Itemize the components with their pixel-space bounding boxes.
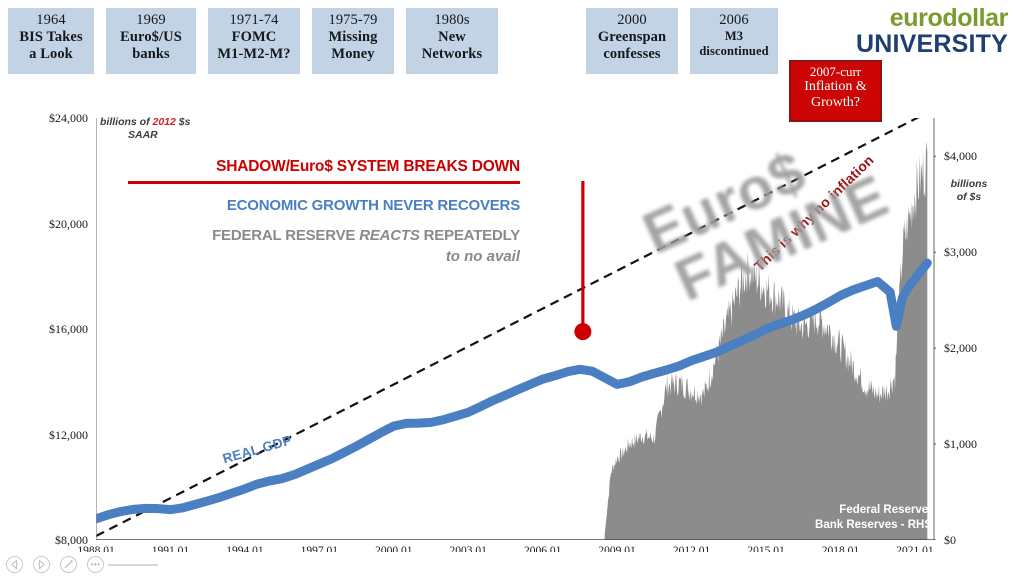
timeline-box-year: 2000 (588, 12, 676, 29)
timeline-box-line3: Money (314, 46, 392, 63)
pen-tool-icon[interactable] (60, 556, 77, 573)
y-axis-tick-label: $24,000 (30, 111, 88, 126)
event-box-2007-year: 2007-curr (791, 64, 880, 79)
slide-canvas: 1964BIS Takesa Look1969Euro$/USbanks1971… (0, 0, 1024, 576)
timeline-box-year: 1975-79 (314, 12, 392, 29)
timeline-box-1975-79[interactable]: 1975-79MissingMoney (312, 8, 394, 74)
annotation-rule (128, 181, 520, 184)
previous-slide-icon[interactable] (6, 556, 23, 573)
timeline-box-1964[interactable]: 1964BIS Takesa Look (8, 8, 94, 74)
event-box-2007-line2: Inflation & (791, 79, 880, 95)
left-axis-caption-year: 2012 (153, 116, 176, 128)
annotation-line-3b: REPEATEDLY (420, 227, 520, 244)
timeline-box-line3: confesses (588, 46, 676, 63)
presentation-toolbar: ••• (0, 552, 1024, 576)
source-note-line-1: Federal Reserve; (839, 504, 932, 516)
timeline-box-line2: New (408, 29, 496, 46)
timeline-box-line2: Missing (314, 29, 392, 46)
timeline-box-line3: M1-M2-M? (210, 46, 298, 63)
timeline-box-year: 2006 (692, 12, 776, 29)
timeline-box-1971-74[interactable]: 1971-74FOMCM1-M2-M? (208, 8, 300, 74)
timeline-box-year: 1971-74 (210, 12, 298, 29)
left-axis-caption-pre: billions of (100, 116, 153, 128)
annotation-headline: SHADOW/Euro$ SYSTEM BREAKS DOWN (128, 158, 520, 176)
y2-axis-tick-label: $1,000 (944, 437, 1004, 452)
timeline-box-line2: BIS Takes (10, 29, 92, 46)
y2-axis-tick-label: $4,000 (944, 149, 1004, 164)
right-axis-caption-l2: of $s (957, 191, 982, 203)
left-axis-caption-post: $s (176, 116, 191, 128)
play-slide-icon[interactable] (33, 556, 50, 573)
annotation-line-3a: FEDERAL RESERVE (212, 227, 359, 244)
source-note: Federal Reserve; Bank Reserves - RHS (808, 503, 932, 533)
annotation-line-3: FEDERAL RESERVE REACTS REPEATEDLY (128, 227, 520, 244)
source-note-line-2: Bank Reserves - RHS (815, 519, 932, 531)
event-box-2007-line3: Growth? (791, 95, 880, 111)
annotation-line-2: ECONOMIC GROWTH NEVER RECOVERS (128, 197, 520, 214)
timeline-box-1969[interactable]: 1969Euro$/USbanks (106, 8, 196, 74)
right-axis-caption-l1: billions (951, 178, 988, 190)
timeline-box-line2: FOMC (210, 29, 298, 46)
timeline-box-line3: a Look (10, 46, 92, 63)
timeline-box-line3: discontinued (692, 44, 776, 59)
timeline-box-line3: banks (108, 46, 194, 63)
logo-eurodollar: eurodollar (856, 6, 1008, 32)
y2-axis-tick-label: $0 (944, 533, 1004, 548)
timeline-box-line2: M3 (692, 29, 776, 44)
right-axis-caption: billions of $s (944, 178, 994, 204)
event-box-2007[interactable]: 2007-curr Inflation & Growth? (789, 60, 882, 122)
y-axis-tick-label: $12,000 (30, 428, 88, 443)
timeline-box-year: 1980s (408, 12, 496, 29)
timeline-box-2006[interactable]: 2006M3discontinued (690, 8, 778, 74)
left-axis-caption: billions of 2012 $s SAAR (100, 116, 190, 142)
timeline-box-line2: Euro$/US (108, 29, 194, 46)
timeline-box-1980s[interactable]: 1980sNewNetworks (406, 8, 498, 74)
y2-axis-tick-label: $3,000 (944, 245, 1004, 260)
timeline-box-line3: Networks (408, 46, 496, 63)
timeline-box-line2: Greenspan (588, 29, 676, 46)
logo-university: UNIVERSITY (856, 32, 1008, 58)
y-axis-tick-label: $20,000 (30, 217, 88, 232)
timeline-box-2000[interactable]: 2000Greenspanconfesses (586, 8, 678, 74)
annotation-line-3-emphasis: REACTS (359, 227, 419, 244)
y-axis-tick-label: $16,000 (30, 322, 88, 337)
more-options-icon[interactable]: ••• (87, 556, 104, 573)
timeline-box-year: 1969 (108, 12, 194, 29)
toolbar-slider[interactable] (108, 564, 158, 566)
brand-logo: eurodollar UNIVERSITY (856, 6, 1008, 57)
left-axis-caption-sub: SAAR (100, 129, 190, 142)
annotation-line-4: to no avail (128, 248, 520, 265)
y2-axis-tick-label: $2,000 (944, 341, 1004, 356)
annotation-block: SHADOW/Euro$ SYSTEM BREAKS DOWN ECONOMIC… (128, 158, 520, 265)
timeline-box-year: 1964 (10, 12, 92, 29)
